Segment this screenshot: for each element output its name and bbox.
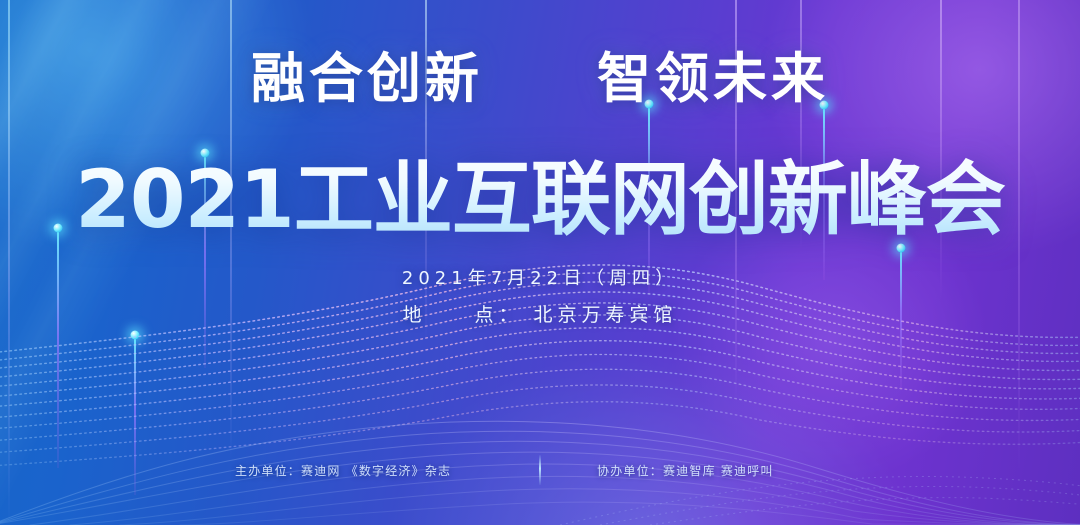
page-headline: 融合创新 智领未来 — [0, 34, 1080, 113]
event-location: 地 点： 北京万寿宾馆 — [0, 300, 1080, 327]
conference-poster: 融合创新 智领未来 2021工业互联网创新峰会 2021年7月22日（周四） 地… — [0, 0, 1080, 525]
host-organizer-label: 主办单位：赛迪网 《数字经济》杂志 — [235, 462, 535, 479]
coorganizer-label: 协办单位：赛迪智库 赛迪呼叫 — [545, 462, 845, 479]
vertical-divider-icon — [539, 455, 541, 485]
page-title: 2021工业互联网创新峰会 — [0, 135, 1080, 251]
footer-credits: 主办单位：赛迪网 《数字经济》杂志 协办单位：赛迪智库 赛迪呼叫 — [0, 455, 1080, 485]
event-date: 2021年7月22日（周四） — [0, 264, 1080, 290]
